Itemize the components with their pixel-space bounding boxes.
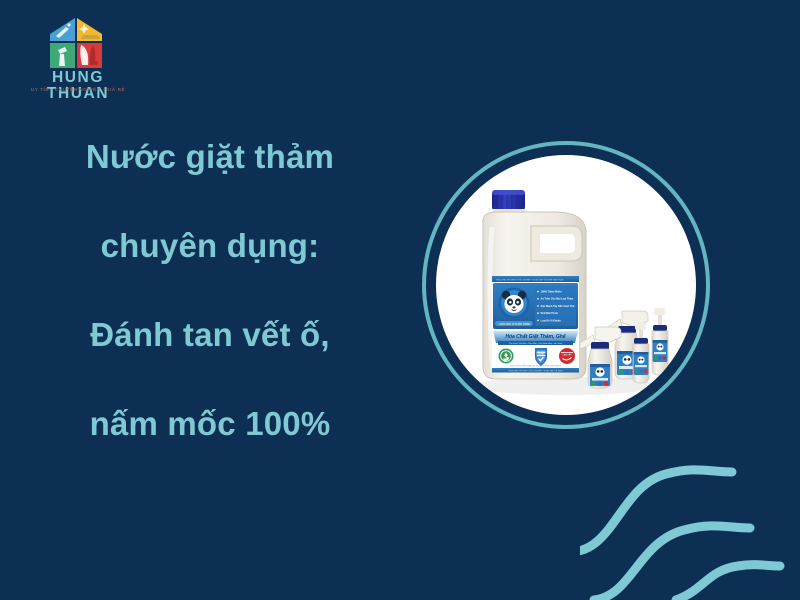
feature-list: 100% Thiên Nhiên An Toàn Cho Mọi Loại Th…	[535, 286, 576, 326]
label-footer-text: ĐỌC KỸ HƯỚNG DẪN SỬ DỤNG TRƯỚC KHI DÙNG	[510, 365, 561, 368]
product-photo-circle: HÓA CHẤT VỆ SINH CÔNG NGHIỆP · HÓA CHẤT …	[422, 141, 710, 429]
svg-text:BẢO HÀNH: BẢO HÀNH	[535, 353, 548, 356]
banner-root: { "brand": { "name": "HUNG THUAN", "tagl…	[0, 0, 800, 600]
headline-line-3: Đánh tan vết ố,	[0, 318, 420, 351]
product-illustration: HÓA CHẤT VỆ SINH CÔNG NGHIỆP · HÓA CHẤT …	[436, 155, 696, 415]
brand-name: HUNG THUAN	[18, 70, 138, 101]
svg-text:CAM KẾT: CAM KẾT	[562, 353, 572, 356]
jug-label: HÓA CHẤT VỆ SINH CÔNG NGHIỆP · HÓA CHẤT …	[492, 276, 579, 373]
headline-line-1: Nước giặt thảm	[0, 140, 420, 173]
svg-text:Hóa Chất Giặt Thảm, Ghế: Hóa Chất Giặt Thảm, Ghế	[505, 333, 567, 340]
svg-text:Loại Bỏ Vi Khuẩn: Loại Bỏ Vi Khuẩn	[541, 319, 562, 322]
svg-text:· HÓA HỌC VÌ CUỘC SỐNG: · HÓA HỌC VÌ CUỘC SỐNG	[498, 323, 530, 326]
label-brand-line: Hóa Chất Giặt Thảm, Ghế Tẩy Sạch Vết Bẩn…	[493, 331, 578, 345]
guarantee-seal-icon: CAM KẾT	[559, 348, 575, 364]
headline-line-2: chuyên dụng:	[0, 229, 420, 262]
circle-inner-fill: HÓA CHẤT VỆ SINH CÔNG NGHIỆP · HÓA CHẤT …	[436, 155, 696, 415]
svg-text:An Toàn Cho Mọi Loại Thảm: An Toàn Cho Mọi Loại Thảm	[541, 298, 575, 301]
house-quadrant-icon	[36, 14, 116, 72]
brand-tagline: UY TÍN - CHUYÊN NGHIỆP - GIÁ RẺ	[18, 88, 138, 93]
svg-text:Sức Mạnh Tẩy Bẩn Vượt Trội: Sức Mạnh Tẩy Bẩn Vượt Trội	[541, 305, 575, 308]
headline-block: Nước giặt thảm chuyên dụng: Đánh tan vết…	[0, 140, 420, 440]
recycle-seal-icon	[499, 349, 514, 364]
svg-text:Khử Mùi Thơm: Khử Mùi Thơm	[541, 312, 559, 315]
svg-text:HÓA CHẤT VỆ SINH CÔNG NGHIỆP ·: HÓA CHẤT VỆ SINH CÔNG NGHIỆP · HÓA CHẤT …	[496, 278, 564, 281]
svg-text:HÓA CHẤT VỆ SINH CÔNG NGHIỆP ·: HÓA CHẤT VỆ SINH CÔNG NGHIỆP · HÓA CHẤT …	[508, 369, 563, 372]
mascot-caption: · HÓA HỌC VÌ CUỘC SỐNG	[495, 321, 533, 326]
brand-logo: HUNG THUAN UY TÍN - CHUYÊN NGHIỆP - GIÁ …	[18, 14, 138, 104]
svg-text:100% Thiên Nhiên: 100% Thiên Nhiên	[541, 291, 562, 294]
pump-spray-bottle-icon	[652, 308, 668, 375]
svg-text:Tẩy Sạch Vết Bẩn - Khử Mùi - D: Tẩy Sạch Vết Bẩn - Khử Mùi - Diệt Nấm Mố…	[509, 342, 563, 345]
bottle-cap-icon	[492, 190, 525, 211]
panda-icon	[499, 288, 530, 319]
headline-line-4: nấm mốc 100%	[0, 407, 420, 440]
